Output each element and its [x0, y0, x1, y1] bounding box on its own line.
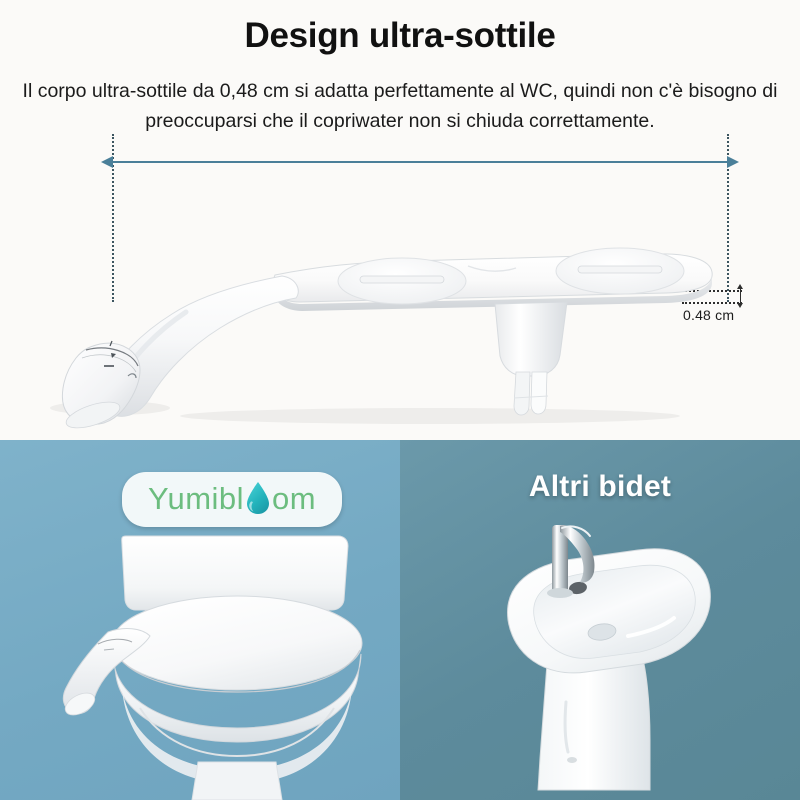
comparison-panels: Yumibl om — [0, 440, 800, 800]
logo-text-before: Yumibl — [148, 482, 244, 516]
toilet-pedestal — [192, 762, 282, 800]
water-drop-icon — [245, 481, 271, 520]
arrow-head-left-icon — [101, 156, 113, 168]
right-pad-slot — [578, 266, 662, 273]
arrow-head-right-icon — [727, 156, 739, 168]
top-section: Design ultra-sottile Il corpo ultra-sott… — [0, 0, 800, 440]
other-bidet-panel: Altri bidet — [400, 440, 800, 800]
pedestal-hole — [567, 757, 577, 763]
yumibloom-panel: Yumibl om — [0, 440, 400, 800]
page-title: Design ultra-sottile — [0, 16, 800, 56]
nozzle-tube-left — [514, 372, 530, 415]
description-text: Il corpo ultra-sottile da 0,48 cm si ada… — [10, 76, 790, 136]
product-feature-image: Design ultra-sottile Il corpo ultra-sott… — [0, 0, 800, 800]
bidet-attachment-illustration — [0, 180, 800, 430]
logo-text-after: om — [272, 482, 316, 516]
spray-nozzle-icon — [495, 302, 567, 376]
toilet-seat-lid — [112, 596, 362, 690]
width-dimension-arrow — [112, 161, 728, 163]
faucet-base — [547, 588, 573, 598]
panel-title-altri-bidet: Altri bidet — [400, 470, 800, 504]
nozzle-tube-right — [531, 372, 547, 414]
left-pad-slot — [360, 276, 444, 283]
brand-logo: Yumibl om — [122, 472, 342, 527]
